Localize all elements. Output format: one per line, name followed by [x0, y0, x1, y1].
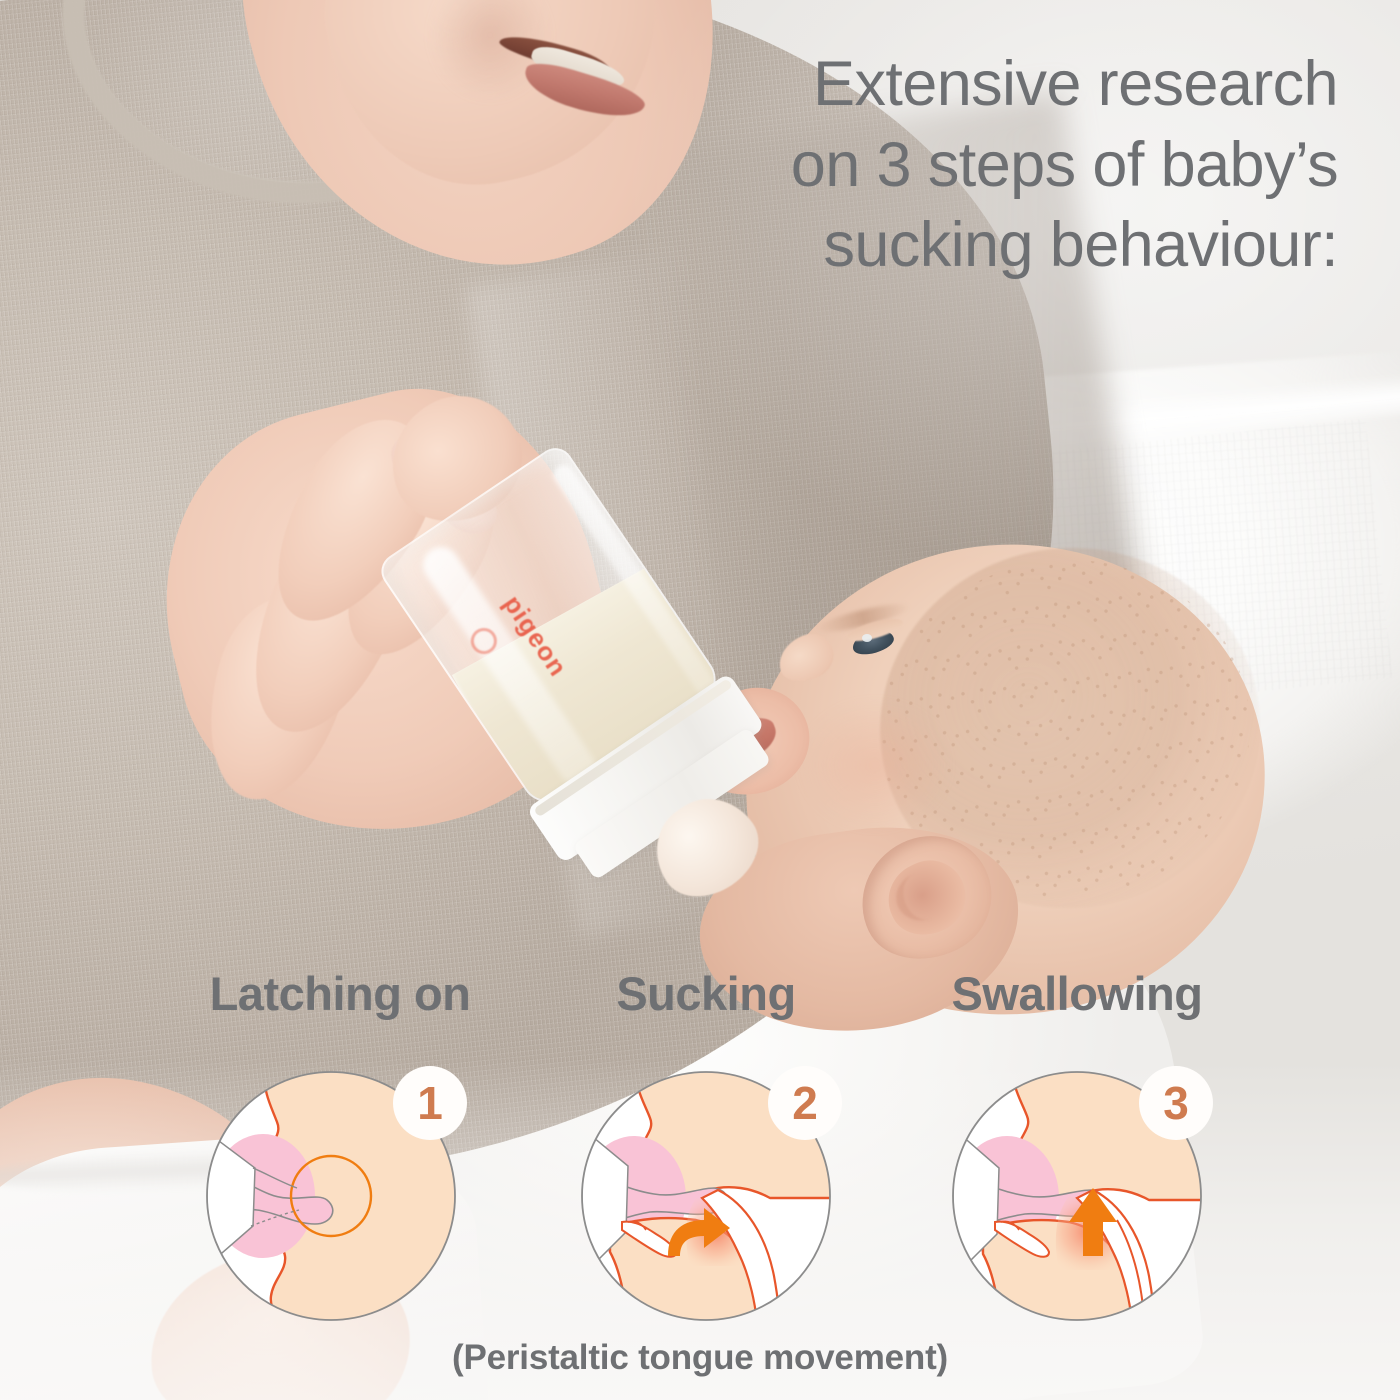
step-diagram-sucking: 2	[580, 1070, 832, 1322]
diagram-caption: (Peristaltic tongue movement)	[0, 1338, 1400, 1378]
step-diagram-swallowing: 3	[951, 1070, 1203, 1322]
step-label-latching-on: Latching on	[210, 966, 471, 1021]
step-label-swallowing: Swallowing	[952, 966, 1203, 1021]
infographic-canvas: pigeon Extensive research on 3 steps of …	[0, 0, 1400, 1400]
step-label-sucking: Sucking	[616, 966, 795, 1021]
step-diagram-latching-on: 1	[205, 1070, 457, 1322]
baby-eye-highlight	[862, 634, 872, 642]
page-title: Extensive research on 3 steps of baby’s …	[678, 44, 1338, 286]
step-number-badge-3: 3	[1139, 1066, 1213, 1140]
step-label-row: Latching on Sucking Swallowing	[0, 966, 1400, 1026]
step-number-badge-1: 1	[393, 1066, 467, 1140]
step-number-badge-2: 2	[768, 1066, 842, 1140]
